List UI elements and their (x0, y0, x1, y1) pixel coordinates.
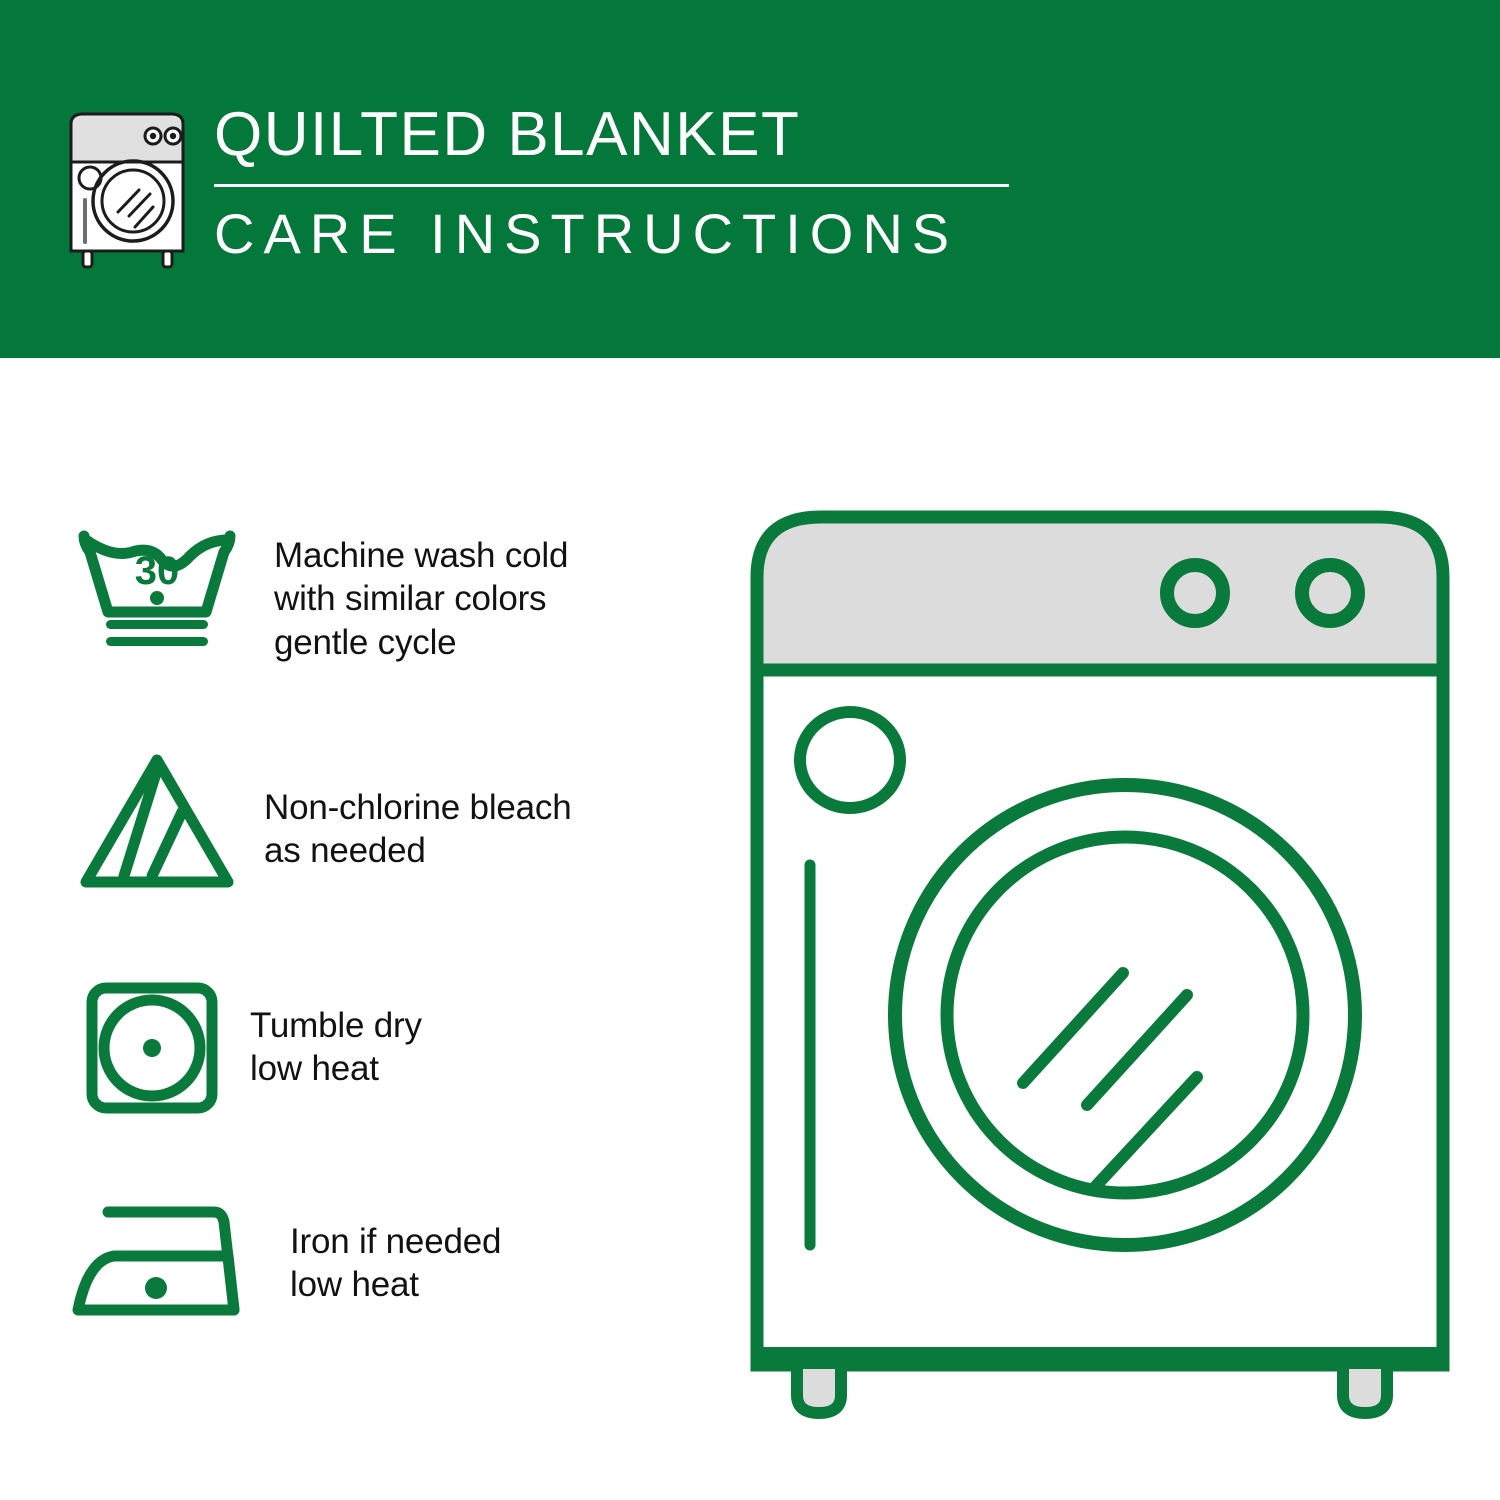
page-header: QUILTED BLANKET CARE INSTRUCTIONS (0, 0, 1500, 358)
washing-machine-icon (63, 106, 195, 271)
care-row: Iron if needed low heat (66, 1198, 501, 1328)
page-subtitle: CARE INSTRUCTIONS (214, 205, 1024, 264)
tumble-dry-icon (82, 978, 222, 1123)
care-row: 30 Machine wash cold with similar colors… (72, 518, 568, 664)
header-text-block: QUILTED BLANKET CARE INSTRUCTIONS (214, 104, 1024, 264)
page-title: QUILTED BLANKET (214, 104, 1024, 166)
washer-leg-left (797, 1363, 841, 1413)
care-instruction-list: 30 Machine wash cold with similar colors… (0, 358, 730, 1500)
care-row-label: Machine wash cold with similar colors ge… (274, 534, 568, 664)
wash-tub-30-icon: 30 (72, 518, 242, 658)
care-row-label: Tumble dry low heat (250, 1004, 422, 1091)
control-panel (757, 517, 1443, 670)
title-divider (214, 184, 1009, 187)
care-row: Non-chlorine bleach as needed (72, 748, 572, 898)
washer-leg-right (1343, 1363, 1387, 1413)
care-row-label: Iron if needed low heat (290, 1220, 501, 1307)
iron-icon (66, 1198, 246, 1328)
washing-machine-illustration (735, 495, 1465, 1425)
care-row-label: Non-chlorine bleach as needed (264, 786, 572, 873)
triangle-bleach-icon (72, 748, 242, 898)
wash-temperature-label: 30 (135, 549, 180, 593)
care-instructions-page: QUILTED BLANKET CARE INSTRUCTIONS 30 (0, 0, 1500, 1500)
care-row: Tumble dry low heat (82, 978, 422, 1123)
